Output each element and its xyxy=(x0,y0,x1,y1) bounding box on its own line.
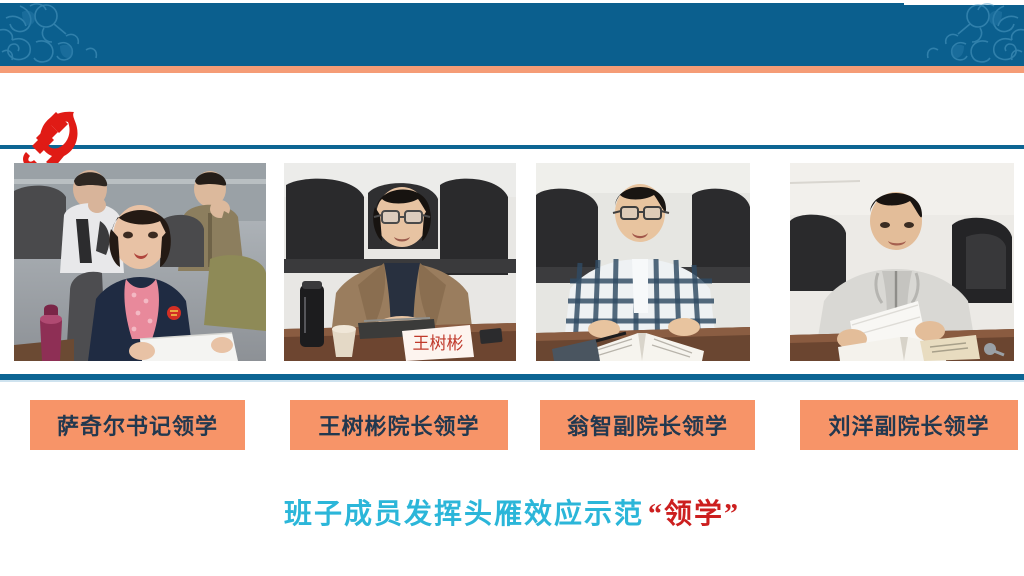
photo-3[interactable] xyxy=(536,163,750,361)
floral-scroll-ornament-right xyxy=(904,0,1024,66)
header-top-hairline xyxy=(0,0,1024,3)
photo-strip: 王树彬 xyxy=(0,163,1024,363)
section-divider-bar-highlight xyxy=(0,380,1024,382)
caption-box-2[interactable]: 王树彬院长领学 xyxy=(290,400,508,450)
photo-4[interactable] xyxy=(790,163,1014,361)
header-accent-strip xyxy=(0,66,1024,73)
emblem-divider-rule xyxy=(0,145,1024,149)
header-band xyxy=(0,0,1024,66)
footer-title: 班子成员发挥头雁效应示范 “领学” xyxy=(0,492,1024,532)
photo-2[interactable]: 王树彬 xyxy=(284,163,516,361)
caption-label-4: 刘洋副院长领学 xyxy=(828,409,989,441)
svg-text:王树彬: 王树彬 xyxy=(413,334,464,353)
caption-box-1[interactable]: 萨奇尔书记领学 xyxy=(30,400,245,450)
floral-scroll-ornament-left xyxy=(0,0,120,66)
footer-title-main: 班子成员发挥头雁效应示范 xyxy=(284,499,644,530)
caption-label-3: 翁智副院长领学 xyxy=(567,409,728,441)
caption-box-3[interactable]: 翁智副院长领学 xyxy=(540,400,755,450)
photo-1[interactable] xyxy=(14,163,266,361)
footer-title-highlight: “领学” xyxy=(648,499,740,530)
caption-label-2: 王树彬院长领学 xyxy=(318,409,479,441)
caption-box-4[interactable]: 刘洋副院长领学 xyxy=(800,400,1018,450)
caption-label-1: 萨奇尔书记领学 xyxy=(57,409,218,441)
